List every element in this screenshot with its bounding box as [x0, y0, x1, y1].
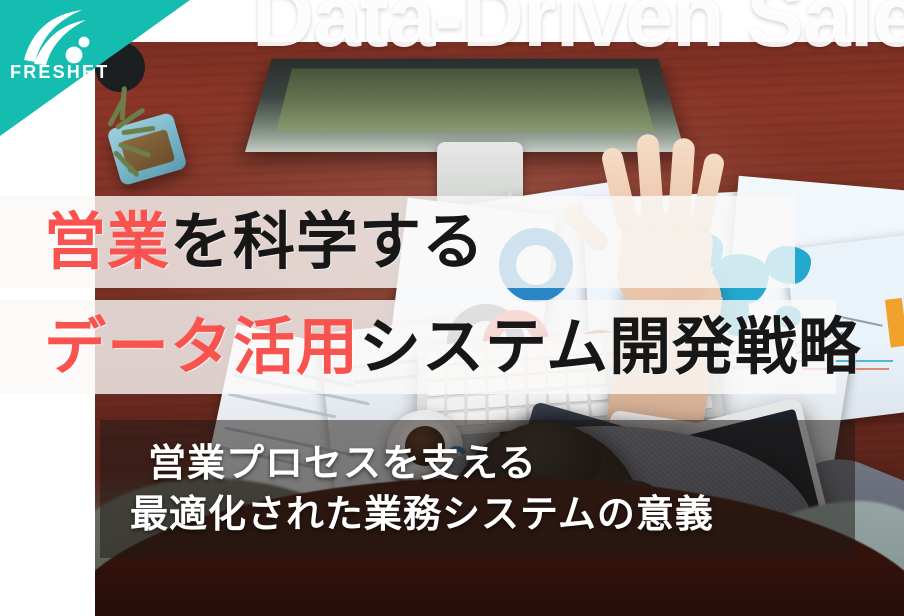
subtitle-panel: 営業プロセスを支える 最適化された業務システムの意義: [100, 420, 855, 558]
brand-name: FRESHET: [10, 62, 109, 83]
wave-swoosh-icon: [22, 8, 100, 66]
monitor-screen: [277, 69, 654, 132]
subtitle-line-2: 最適化された業務システムの意義: [130, 493, 855, 536]
computer-monitor: [245, 59, 685, 152]
subtitle-line-1: 営業プロセスを支える: [130, 442, 855, 485]
headline-line2-dark: システム開発戦略: [359, 316, 861, 378]
header-wordmark: Data-Driven Sales: [252, 0, 904, 60]
headline-band-2: データ活用 システム開発戦略: [0, 300, 836, 394]
banner-canvas: Data-Driven Sales FRESHET 営業 を科学する データ活用…: [0, 0, 904, 616]
headline-line1-red: 営業: [44, 211, 170, 273]
headline-line2-red: データ活用: [44, 316, 359, 378]
headline-band-1: 営業 を科学する: [0, 196, 795, 288]
headline-line1-dark: を科学する: [170, 211, 485, 273]
